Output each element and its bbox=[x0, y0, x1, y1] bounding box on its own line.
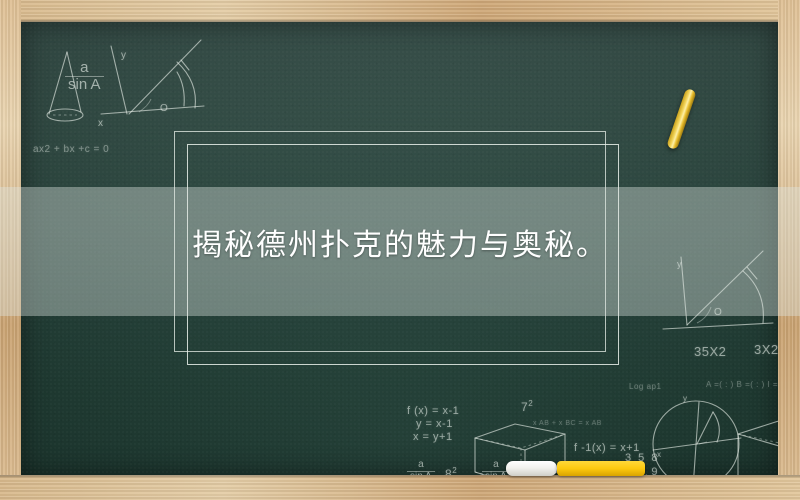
matrix-notation-note: A =( : ) B =( : ) I =( : ) bbox=[706, 380, 778, 389]
frame-top bbox=[0, 0, 800, 22]
angle-label-right: O bbox=[714, 307, 722, 318]
fraction-numerator: a bbox=[65, 60, 104, 77]
expression-35X2: 35X2 bbox=[694, 344, 726, 359]
axis-label-y-circle: y bbox=[683, 394, 688, 403]
fraction-a-over-sinA-topleft: a sin A bbox=[65, 60, 104, 93]
axis-label-y-topleft: y bbox=[121, 50, 127, 61]
power-eight-exponent: 2 bbox=[452, 466, 457, 475]
function-line-3: x = y+1 bbox=[413, 431, 453, 443]
fraction-numerator: a bbox=[407, 460, 435, 472]
chalkboard-scene: a sin A y x O ax2 + bx +c = 0 y O 35X2 3… bbox=[0, 0, 800, 500]
axis-label-x-topleft: x bbox=[98, 118, 104, 129]
power-seven-exponent: 2 bbox=[528, 399, 533, 408]
cube-diagram-right-icon bbox=[726, 400, 778, 475]
function-line-1: f (x) = x-1 bbox=[407, 405, 459, 417]
white-chalk-piece-icon bbox=[506, 461, 557, 476]
yellow-chalk-piece-icon bbox=[557, 461, 645, 476]
power-seven: 72 bbox=[521, 399, 533, 414]
function-line-2: y = x-1 bbox=[416, 418, 453, 430]
log-note-right: Log ap1 bbox=[629, 382, 661, 391]
quadratic-equation-note: ax2 + bx +c = 0 bbox=[33, 144, 109, 155]
angle-label-topleft: O bbox=[160, 103, 168, 114]
power-eight: 82 bbox=[445, 466, 457, 475]
expression-3X2: 3X2 bbox=[754, 342, 778, 357]
faint-expression-note: x AB + x BC = x AB bbox=[533, 420, 602, 427]
page-title: 揭秘德州扑克的魅力与奥秘。 bbox=[0, 220, 800, 264]
fraction-denominator: sin A bbox=[65, 77, 104, 93]
frame-bottom-tray bbox=[0, 475, 800, 500]
fraction-a-over-sinA-bottomleft: a sin A bbox=[407, 460, 435, 475]
